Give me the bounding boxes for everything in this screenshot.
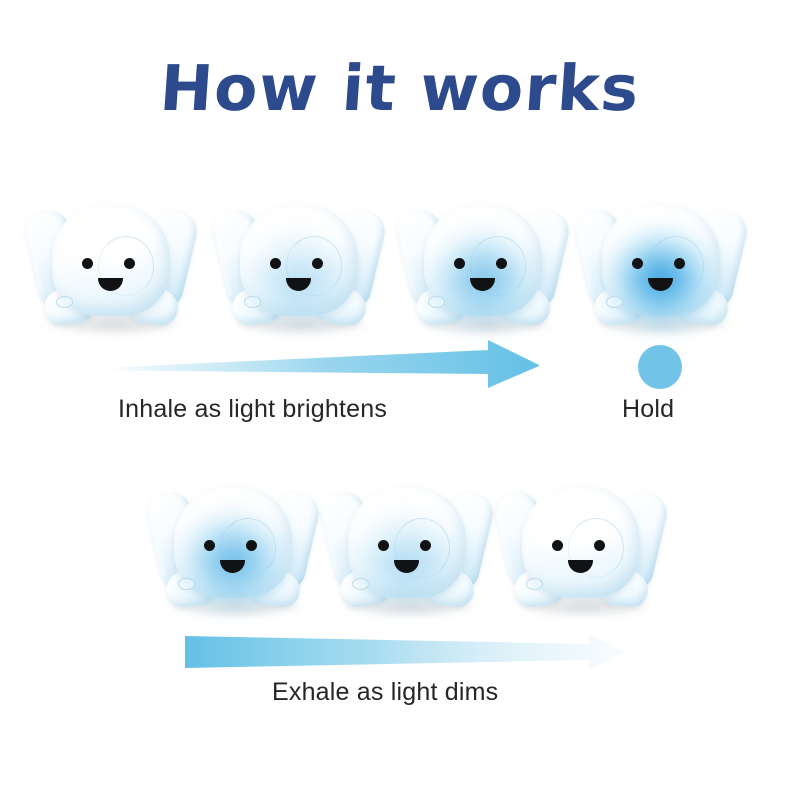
dog-inhale-3 (398, 196, 568, 346)
exhale-arrow (185, 628, 625, 678)
dog-eye-left (270, 258, 281, 269)
how-it-works-infographic: How it works (0, 0, 800, 800)
dog-tag (526, 578, 543, 590)
page-title: How it works (0, 52, 800, 125)
dog-inhale-2 (214, 196, 384, 346)
dog-eye-left (552, 540, 563, 551)
dog-exhale-1 (148, 478, 318, 628)
dog-eye-right (124, 258, 135, 269)
dog-inhale-1 (26, 196, 196, 346)
dog-eye-right (674, 258, 685, 269)
dog-eye-right (312, 258, 323, 269)
dog-tag (352, 578, 369, 590)
inhale-caption: Inhale as light brightens (118, 395, 387, 424)
dog-eye-left (204, 540, 215, 551)
dog-eye-left (454, 258, 465, 269)
dog-exhale-2 (322, 478, 492, 628)
dog-tag (56, 296, 73, 308)
dog-eye-right (420, 540, 431, 551)
dog-tag (606, 296, 623, 308)
dog-eye-right (594, 540, 605, 551)
dog-tag (244, 296, 261, 308)
dog-exhale-3 (496, 478, 666, 628)
dog-hold (576, 196, 746, 346)
dog-tag (178, 578, 195, 590)
dog-eye-left (632, 258, 643, 269)
dog-eye-right (246, 540, 257, 551)
inhale-arrow (110, 340, 540, 392)
dog-eye-left (378, 540, 389, 551)
hold-caption: Hold (622, 395, 674, 424)
dog-tag (428, 296, 445, 308)
exhale-caption: Exhale as light dims (272, 678, 498, 707)
dog-eye-left (82, 258, 93, 269)
hold-indicator-dot (638, 345, 682, 389)
dog-eye-right (496, 258, 507, 269)
